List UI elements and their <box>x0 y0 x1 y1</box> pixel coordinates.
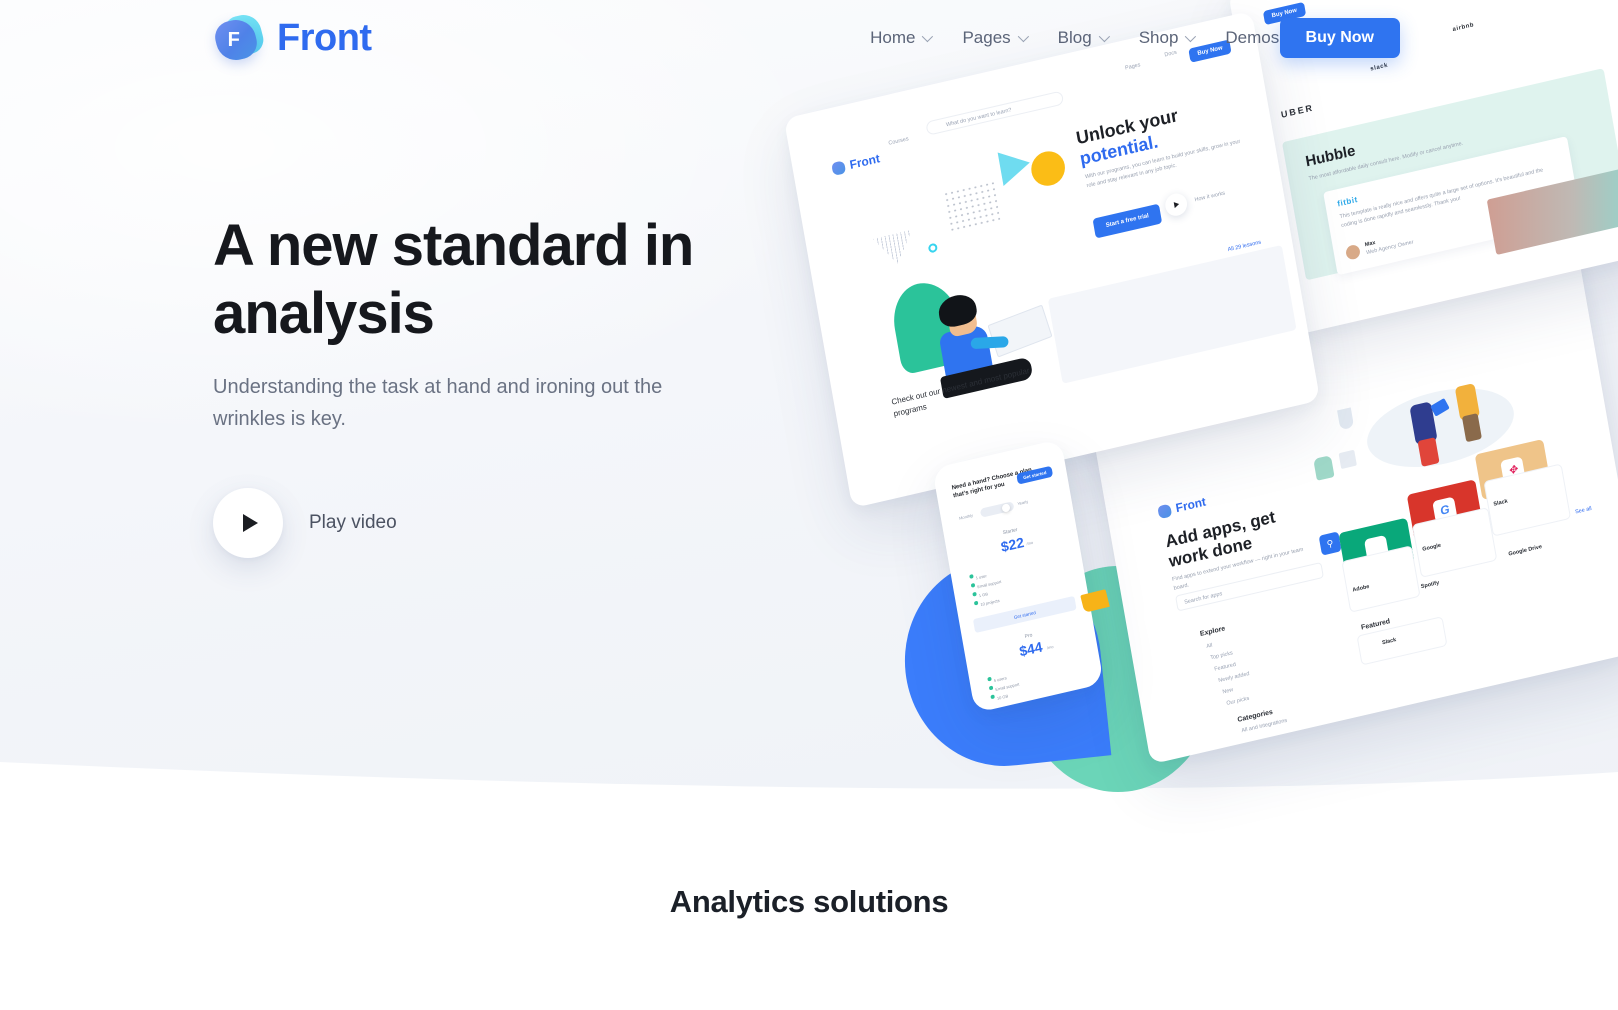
app-card-title: Spotify <box>1420 580 1439 590</box>
plan-feature: 10 GB <box>997 693 1009 700</box>
plan-feature: Email support <box>995 682 1020 692</box>
chair-icon <box>1339 450 1357 469</box>
play-triangle-icon <box>1173 201 1179 208</box>
search-icon[interactable]: ⚲ <box>1319 531 1342 555</box>
plan-feature: 10 projects <box>980 598 1000 607</box>
chevron-down-icon <box>922 31 933 42</box>
yellow-circle-icon <box>1029 148 1068 189</box>
chevron-down-icon <box>1017 31 1028 42</box>
nav-label: Blog <box>1058 28 1092 48</box>
nav-label: Demos <box>1225 28 1279 48</box>
cyan-triangle-icon <box>998 146 1033 186</box>
plan-feature: 5 users <box>993 675 1007 683</box>
check-icon <box>990 694 995 699</box>
mock-brand-logo: Front <box>831 151 881 176</box>
landing-page: F Front Home Pages Blog Shop Demos <box>0 0 1618 1010</box>
see-all-link[interactable]: See all <box>1575 506 1592 516</box>
mock-brand-logo: Front <box>1157 495 1207 520</box>
mock-brand-name: Front <box>849 151 881 172</box>
plan-feature: 1 GB <box>978 591 988 598</box>
explore-item[interactable]: Featured <box>1214 662 1236 673</box>
mock-gray-panel <box>1048 245 1297 384</box>
play-video-label: Play video <box>309 512 397 534</box>
mock-nav-courses: Courses <box>888 136 909 147</box>
logo-uber: UBER <box>1280 102 1314 119</box>
plan-feature: 1 user <box>975 573 987 580</box>
laptop-icon <box>987 305 1052 358</box>
brand-name: Front <box>277 17 372 60</box>
explore-item[interactable]: Our picks <box>1226 696 1250 707</box>
nav-item-home[interactable]: Home <box>854 22 946 54</box>
nav-label: Home <box>870 28 915 48</box>
explore-item[interactable]: Top picks <box>1210 650 1233 661</box>
check-icon <box>989 685 994 690</box>
nav-item-shop[interactable]: Shop <box>1123 22 1210 54</box>
toggle-left-label: Monthly <box>959 513 974 521</box>
toggle-right-label: Yearly <box>1017 499 1029 506</box>
site-header: F Front Home Pages Blog Shop Demos <box>0 0 1618 78</box>
brand-logo[interactable]: F Front <box>213 12 372 64</box>
check-icon <box>987 677 992 682</box>
check-icon <box>971 583 976 588</box>
mock-secondary-label: How it works <box>1194 190 1225 203</box>
play-video-row[interactable]: Play video <box>213 488 773 558</box>
play-video-button[interactable] <box>213 488 283 558</box>
front-logo-icon <box>831 160 846 176</box>
nav-item-pages[interactable]: Pages <box>946 22 1041 54</box>
explore-item[interactable]: All <box>1206 643 1213 650</box>
chevron-down-icon <box>1098 31 1109 42</box>
front-logo-icon: F <box>213 12 265 64</box>
nav-label: Pages <box>962 28 1010 48</box>
analytics-solutions-heading: Analytics solutions <box>0 884 1618 920</box>
hero-subtitle: Understanding the task at hand and ironi… <box>213 371 733 436</box>
check-icon <box>974 601 979 606</box>
chevron-down-icon <box>1185 31 1196 42</box>
ring-icon <box>928 243 938 254</box>
explore-item[interactable]: New <box>1222 687 1234 695</box>
plant-icon <box>1313 455 1334 481</box>
person-arm <box>971 336 1009 349</box>
hero-copy: A new standard in analysis Understanding… <box>213 212 773 558</box>
plan-feature: Email support <box>977 579 1002 589</box>
page-title: A new standard in analysis <box>213 212 773 349</box>
mock-brand-name: Front <box>1175 495 1207 516</box>
explore-label: Explore <box>1200 625 1226 638</box>
mock-play-video-button[interactable] <box>1164 191 1189 218</box>
app-card-title: Google Drive <box>1508 544 1542 558</box>
explore-item[interactable]: Newly added <box>1218 671 1250 684</box>
check-icon <box>969 574 974 579</box>
buy-now-button[interactable]: Buy Now <box>1280 18 1400 58</box>
dots-pattern-icon <box>943 180 1001 233</box>
play-triangle-icon <box>243 514 258 532</box>
front-logo-icon <box>1157 503 1172 519</box>
check-icon <box>972 592 977 597</box>
mock-start-trial-button[interactable]: Start a free trial <box>1092 204 1162 239</box>
logo-letter: F <box>213 20 255 60</box>
nav-item-blog[interactable]: Blog <box>1042 22 1123 54</box>
billing-toggle-knob[interactable] <box>1001 503 1010 513</box>
hatched-triangle-icon <box>873 230 917 269</box>
nav-label: Shop <box>1139 28 1179 48</box>
lamp-icon <box>1337 407 1354 430</box>
